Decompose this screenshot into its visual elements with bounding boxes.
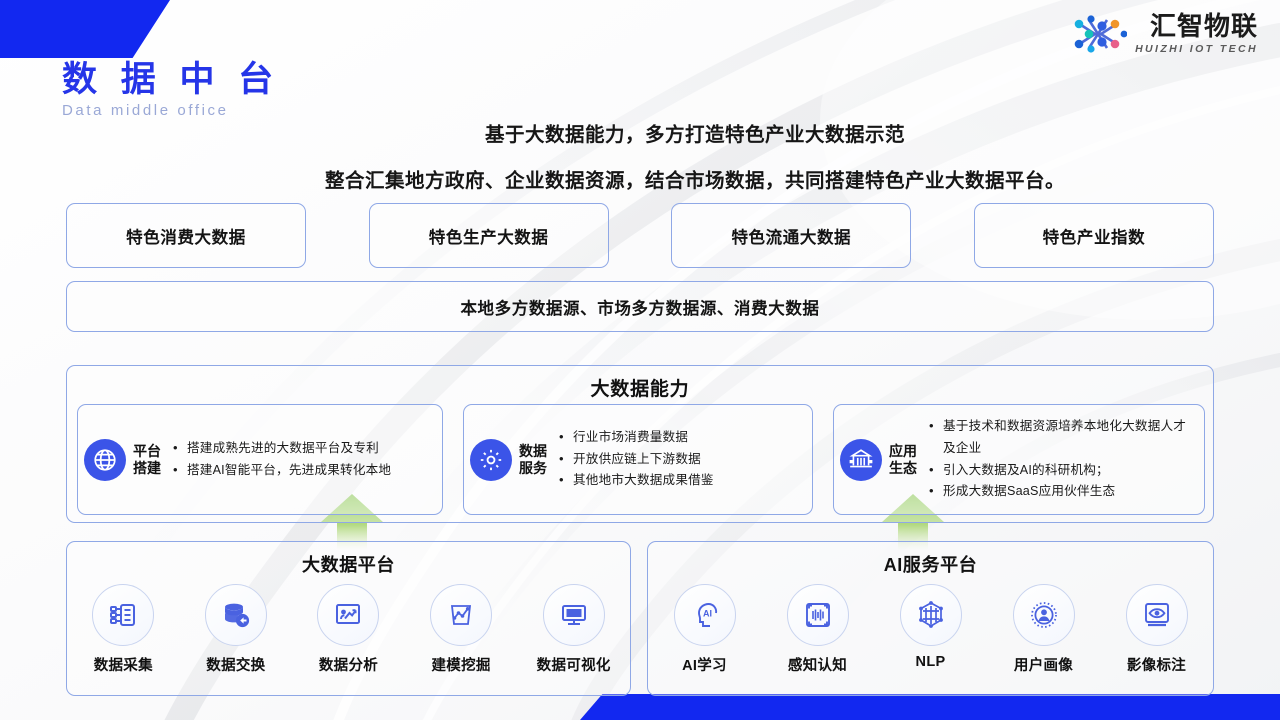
list-item: 其他地市大数据成果借鉴 xyxy=(557,470,806,492)
database-exchange-icon xyxy=(205,584,267,646)
neural-net-icon xyxy=(900,584,962,646)
capability-card-platform[interactable]: 平台 搭建 搭建成熟先进的大数据平台及专利 搭建AI智能平台，先进成果转化本地 xyxy=(77,404,443,515)
list-item: 开放供应链上下游数据 xyxy=(557,449,806,471)
capability-card-label: 平台 搭建 xyxy=(133,443,161,475)
page-title-en: Data middle office xyxy=(62,102,280,119)
source-box[interactable]: 特色流通大数据 xyxy=(671,203,911,268)
platform-item-label: 影像标注 xyxy=(1127,654,1186,675)
chart-analysis-icon xyxy=(317,584,379,646)
headline-line-1: 基于大数据能力，多方打造特色产业大数据示范 xyxy=(190,118,1200,147)
list-item: 搭建AI智能平台，先进成果转化本地 xyxy=(171,460,436,482)
capability-card-heading: 平台 搭建 xyxy=(84,439,161,481)
scan-perception-icon xyxy=(787,584,849,646)
user-portrait-icon xyxy=(1013,584,1075,646)
ai-service-platform-items: AI AI学习 感知认知 xyxy=(648,584,1213,675)
capability-card-label: 应用 生态 xyxy=(889,443,917,475)
gear-icon xyxy=(470,439,512,481)
globe-icon xyxy=(84,439,126,481)
brand-logo: 汇智物联 HUIZHI IOT TECH xyxy=(1069,12,1258,56)
source-box-label: 特色生产大数据 xyxy=(429,224,549,248)
capability-card-heading: 应用 生态 xyxy=(840,439,917,481)
list-item: 基于技术和数据资源培养本地化大数据人才及企业 xyxy=(927,416,1198,459)
platform-item[interactable]: AI AI学习 xyxy=(653,584,757,675)
capability-card-label-line1: 平台 xyxy=(133,443,161,459)
platform-item-label: 数据采集 xyxy=(94,654,153,675)
source-box-row: 特色消费大数据 特色生产大数据 特色流通大数据 特色产业指数 xyxy=(66,203,1214,268)
page-title-cn: 数 据 中 台 xyxy=(62,62,280,99)
institution-icon xyxy=(840,439,882,481)
list-item: 形成大数据SaaS应用伙伴生态 xyxy=(927,481,1198,503)
platform-item[interactable]: 数据分析 xyxy=(296,584,400,675)
list-item: 搭建成熟先进的大数据平台及专利 xyxy=(171,438,436,460)
capability-bullet-list: 行业市场消费量数据 开放供应链上下游数据 其他地市大数据成果借鉴 xyxy=(557,427,806,492)
capability-panel: 大数据能力 平台 搭建 搭建成熟先进的大数据平台及专利 搭建A xyxy=(66,365,1214,523)
ai-service-platform-panel: AI服务平台 AI AI学习 感知认知 xyxy=(647,541,1214,696)
platform-item[interactable]: NLP xyxy=(879,584,983,670)
headline-line-2: 整合汇集地方政府、企业数据资源，结合市场数据，共同搭建特色产业大数据平台。 xyxy=(190,164,1200,193)
platform-item-label: 数据分析 xyxy=(319,654,378,675)
monitor-visualize-icon xyxy=(543,584,605,646)
headline-block: 基于大数据能力，多方打造特色产业大数据示范 整合汇集地方政府、企业数据资源，结合… xyxy=(190,118,1200,193)
ai-service-platform-title: AI服务平台 xyxy=(648,551,1213,577)
platform-item[interactable]: 影像标注 xyxy=(1105,584,1209,675)
data-source-band-label: 本地多方数据源、市场多方数据源、消费大数据 xyxy=(460,295,819,319)
list-item: 行业市场消费量数据 xyxy=(557,427,806,449)
big-data-platform-title: 大数据平台 xyxy=(67,551,630,577)
platform-item-label: NLP xyxy=(916,654,946,670)
data-source-band[interactable]: 本地多方数据源、市场多方数据源、消费大数据 xyxy=(66,281,1214,332)
capability-card-label-line1: 数据 xyxy=(519,443,547,459)
big-data-platform-items: 数据采集 数据交换 xyxy=(67,584,630,675)
source-box[interactable]: 特色消费大数据 xyxy=(66,203,306,268)
source-box-label: 特色消费大数据 xyxy=(126,224,246,248)
capability-card-heading: 数据 服务 xyxy=(470,439,547,481)
capability-card-app-ecosystem[interactable]: 应用 生态 基于技术和数据资源培养本地化大数据人才及企业 引入大数据及AI的科研… xyxy=(833,404,1205,515)
source-box[interactable]: 特色生产大数据 xyxy=(369,203,609,268)
page-title: 数 据 中 台 Data middle office xyxy=(62,62,280,119)
platform-item-label: AI学习 xyxy=(682,654,727,675)
platform-item-label: 用户画像 xyxy=(1014,654,1073,675)
platform-item-label: 建模挖掘 xyxy=(431,654,490,675)
big-data-platform-panel: 大数据平台 数据采集 xyxy=(66,541,631,696)
platform-item-label: 数据可视化 xyxy=(537,654,611,675)
model-mining-icon xyxy=(430,584,492,646)
platform-item[interactable]: 数据交换 xyxy=(184,584,288,675)
capability-title: 大数据能力 xyxy=(67,374,1213,401)
capability-card-label: 数据 服务 xyxy=(519,443,547,475)
source-box-label: 特色流通大数据 xyxy=(731,224,851,248)
platform-item[interactable]: 数据采集 xyxy=(71,584,175,675)
capability-card-label-line2: 搭建 xyxy=(133,460,161,476)
capability-bullet-list: 搭建成熟先进的大数据平台及专利 搭建AI智能平台，先进成果转化本地 xyxy=(171,438,436,481)
brand-name-en: HUIZHI IOT TECH xyxy=(1135,44,1258,55)
capability-bullet-list: 基于技术和数据资源培养本地化大数据人才及企业 引入大数据及AI的科研机构； 形成… xyxy=(927,416,1198,503)
svg-text:AI: AI xyxy=(703,609,712,619)
platform-item-label: 感知认知 xyxy=(788,654,847,675)
platform-item[interactable]: 用户画像 xyxy=(992,584,1096,675)
data-collection-icon xyxy=(92,584,154,646)
source-box[interactable]: 特色产业指数 xyxy=(974,203,1214,268)
capability-card-data-service[interactable]: 数据 服务 行业市场消费量数据 开放供应链上下游数据 其他地市大数据成果借鉴 xyxy=(463,404,813,515)
capability-card-label-line2: 服务 xyxy=(519,460,547,476)
ai-head-icon: AI xyxy=(674,584,736,646)
molecule-network-icon xyxy=(1069,12,1127,56)
platform-item[interactable]: 数据可视化 xyxy=(522,584,626,675)
platform-item[interactable]: 感知认知 xyxy=(766,584,870,675)
source-box-label: 特色产业指数 xyxy=(1043,224,1146,248)
capability-card-row: 平台 搭建 搭建成熟先进的大数据平台及专利 搭建AI智能平台，先进成果转化本地 xyxy=(77,404,1205,515)
bottom-accent-bar xyxy=(580,694,1280,720)
list-item: 引入大数据及AI的科研机构； xyxy=(927,460,1198,482)
capability-card-label-line1: 应用 xyxy=(889,443,917,459)
capability-card-label-line2: 生态 xyxy=(889,460,917,476)
brand-name-cn: 汇智物联 xyxy=(1150,13,1258,39)
platform-item-label: 数据交换 xyxy=(206,654,265,675)
eye-image-icon xyxy=(1126,584,1188,646)
platform-item[interactable]: 建模挖掘 xyxy=(409,584,513,675)
